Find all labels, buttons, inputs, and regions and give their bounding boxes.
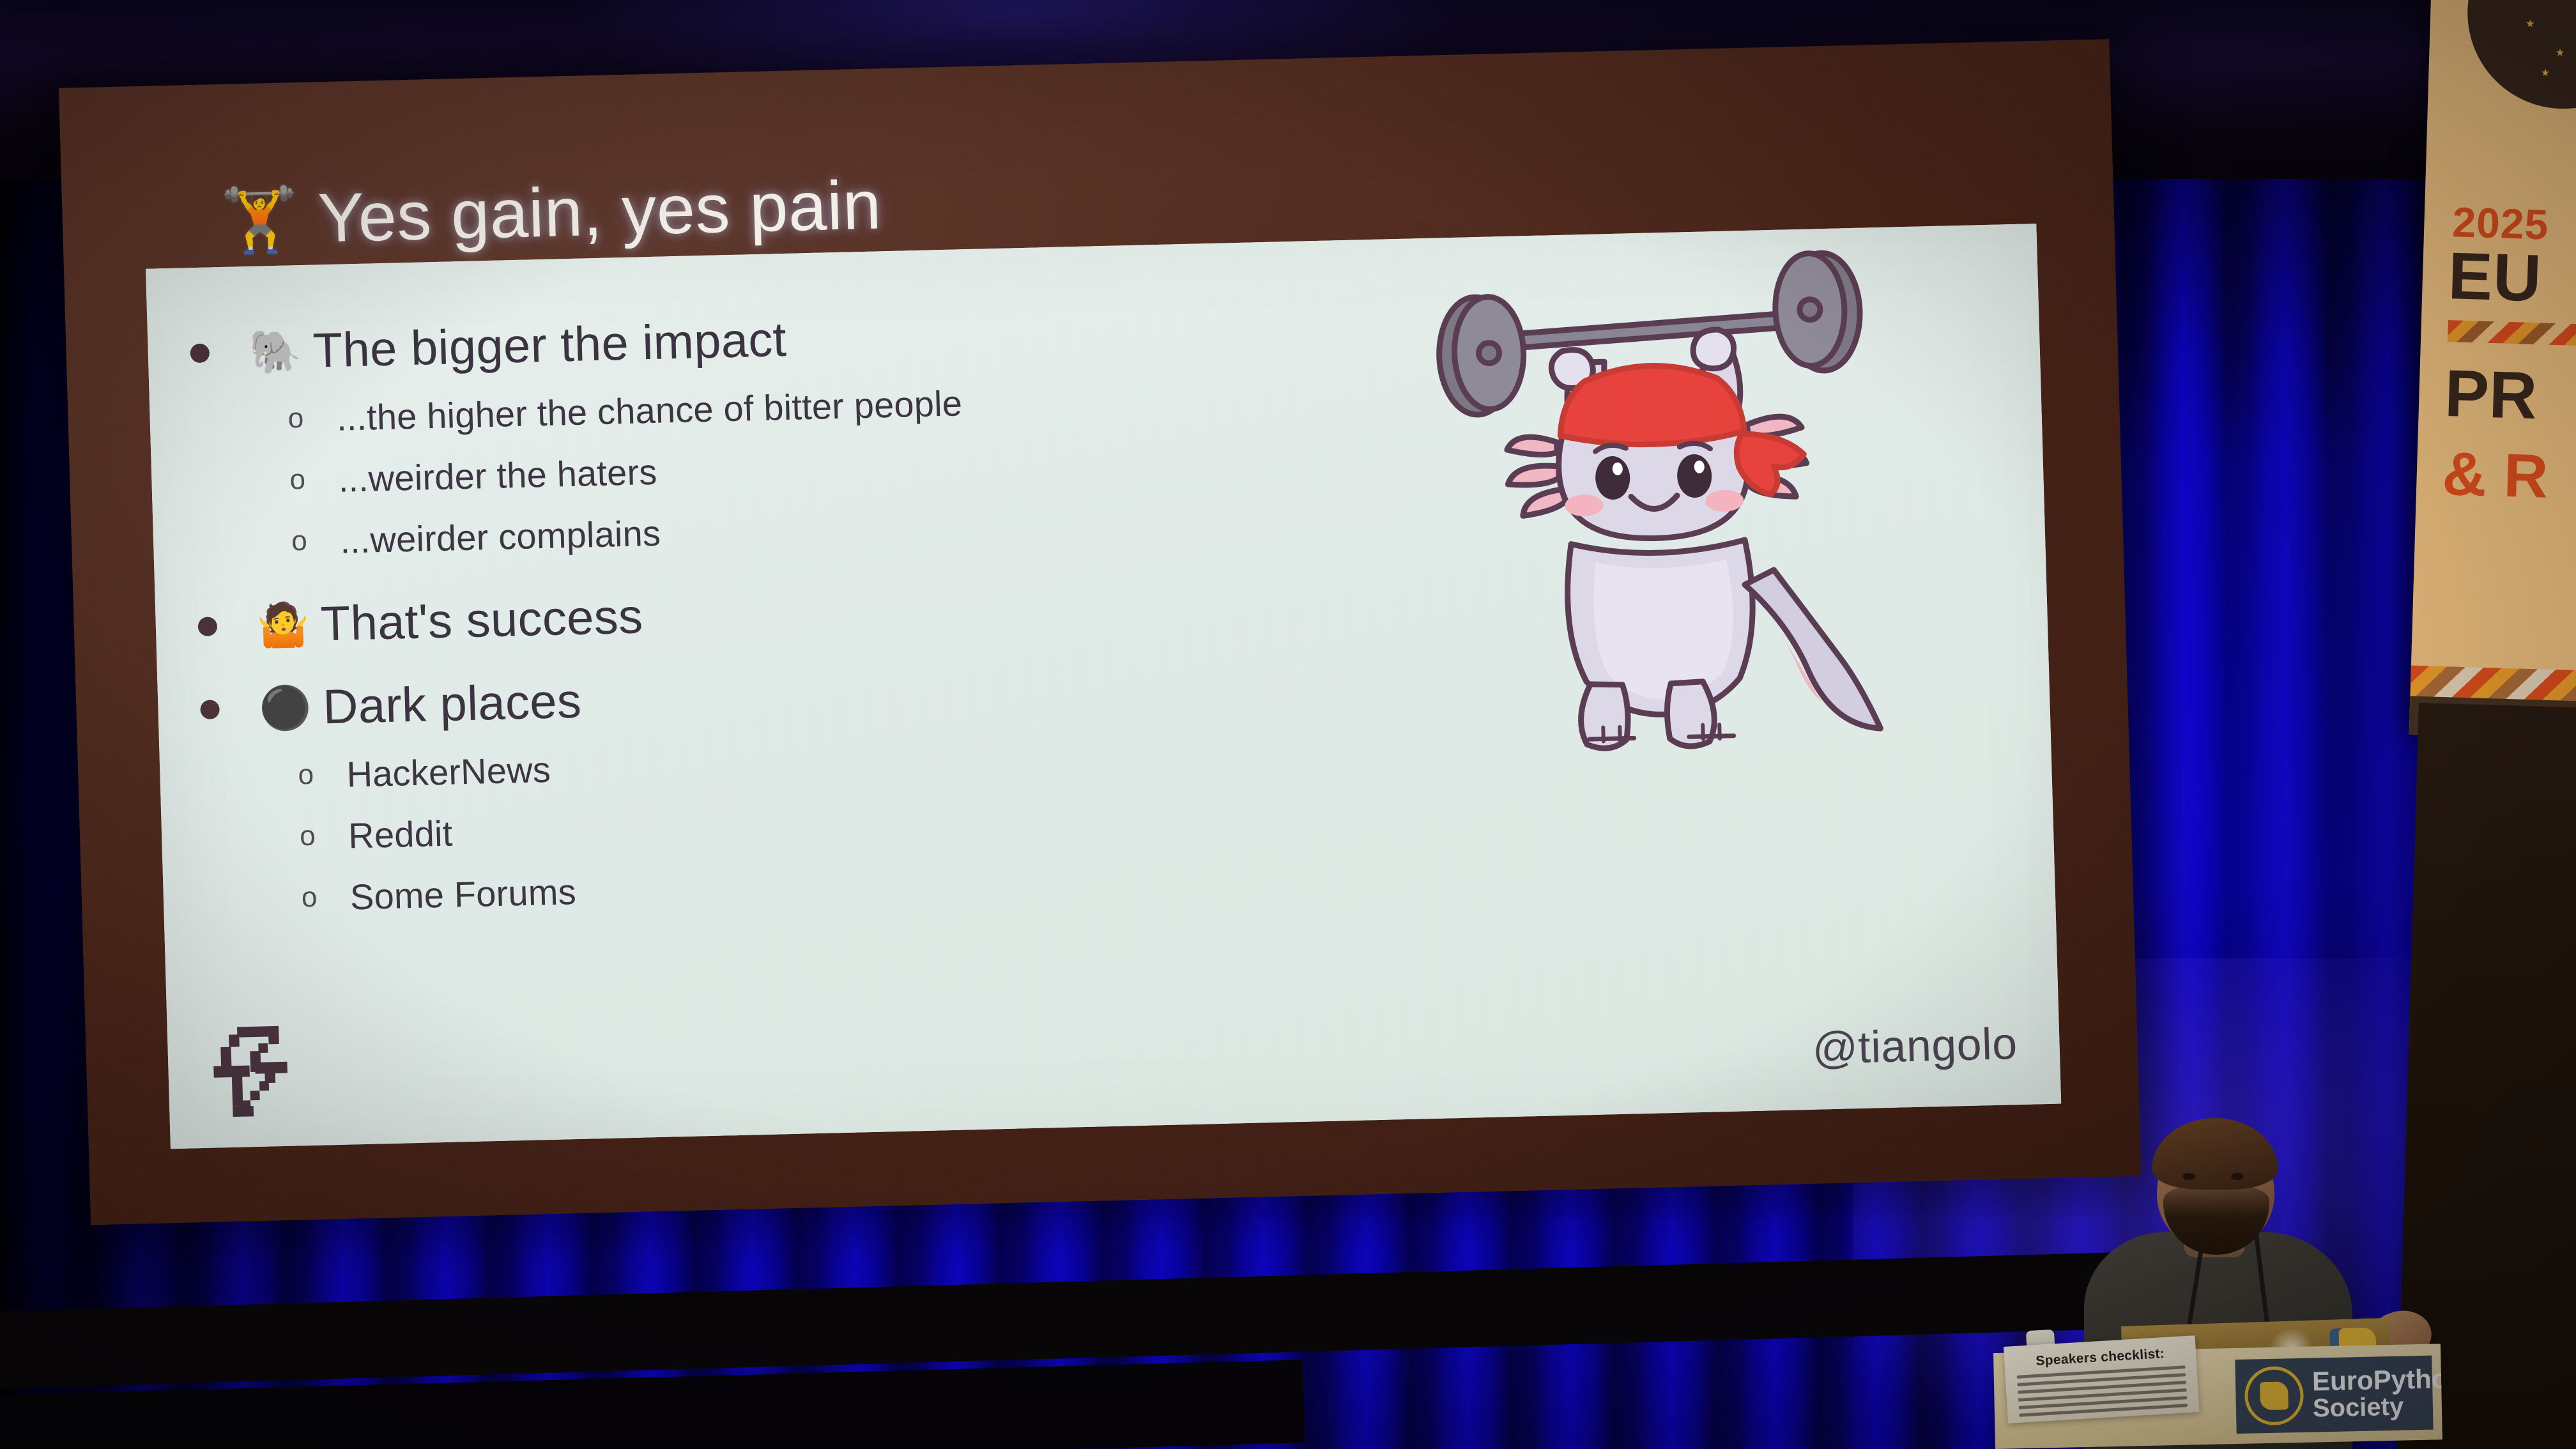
europython-poster: 2025 EU PR & R: [2409, 0, 2576, 740]
badge-line-2: Society: [2313, 1393, 2442, 1422]
sub-bullet-marker-icon: o: [300, 821, 349, 850]
shrug-emoji: 🤷: [256, 603, 310, 647]
bullet-dot-icon: [190, 343, 210, 363]
bullet-label: Dark places: [322, 673, 582, 735]
poster-line-amp: & R: [2441, 439, 2549, 512]
poster-line-pr: PR: [2444, 356, 2538, 434]
presenter-hair: [2152, 1118, 2278, 1190]
sub-bullet-marker-icon: o: [289, 465, 339, 494]
sub-bullet-label: ...weirder the haters: [338, 450, 658, 500]
pixel-lightning-bolt-logo: [204, 1014, 303, 1125]
sub-bullet-marker-icon: o: [287, 404, 337, 433]
sub-bullet-label: Some Forums: [349, 871, 577, 917]
checklist-body-lines: [2017, 1365, 2188, 1417]
elephant-emoji: 🐘: [249, 330, 302, 373]
sub-bullet-marker-icon: o: [301, 882, 350, 912]
poster-line-eu: EU: [2447, 238, 2543, 317]
sub-bullet-marker-icon: o: [298, 760, 347, 790]
slide-title: 🏋️ Yes gain, yes pain: [220, 164, 882, 260]
slide-content-card: 🐘 The bigger the impact o ...the higher …: [146, 224, 2061, 1149]
author-handle: @tiangolo: [1812, 1018, 2018, 1074]
list-item: 🤷 That's success: [197, 565, 1298, 663]
sub-bullet-marker-icon: o: [291, 526, 341, 556]
europython-logo-icon: [2244, 1366, 2304, 1426]
weightlifter-emoji: 🏋️: [220, 187, 300, 252]
bullet-dot-icon: [200, 700, 220, 719]
axolotl-lifting-barbell-illustration: [1391, 236, 1919, 810]
projected-slide: 🏋️ Yes gain, yes pain 🐘 The bigger the i…: [59, 39, 2141, 1225]
speakers-checklist-sign: Speakers checklist:: [2004, 1335, 2200, 1423]
badge-line-1: EuroPython: [2312, 1365, 2442, 1396]
sub-bullet-label: HackerNews: [346, 748, 551, 795]
bullet-label: The bigger the impact: [312, 311, 788, 378]
poster-zigzag-divider: [2448, 320, 2576, 348]
sub-bullet-label: ...weirder complains: [339, 512, 661, 561]
poster-night-circle: [2465, 0, 2576, 112]
slide-title-text: Yes gain, yes pain: [317, 164, 882, 257]
presenter-eye-left: [2182, 1173, 2195, 1180]
bullet-dot-icon: [197, 617, 217, 636]
bullet-list: 🐘 The bigger the impact o ...the higher …: [189, 291, 1305, 931]
presenter-eye-right: [2231, 1173, 2244, 1180]
sub-bullet-label: Reddit: [348, 812, 453, 856]
europython-society-badge: EuroPython Society: [2235, 1356, 2433, 1434]
bullet-label: That's success: [320, 588, 644, 652]
sub-bullet-label: ...the higher the chance of bitter peopl…: [336, 382, 963, 438]
black-circle-emoji: ⚫: [259, 686, 312, 730]
stage-photo: 🏋️ Yes gain, yes pain 🐘 The bigger the i…: [0, 0, 2576, 1449]
